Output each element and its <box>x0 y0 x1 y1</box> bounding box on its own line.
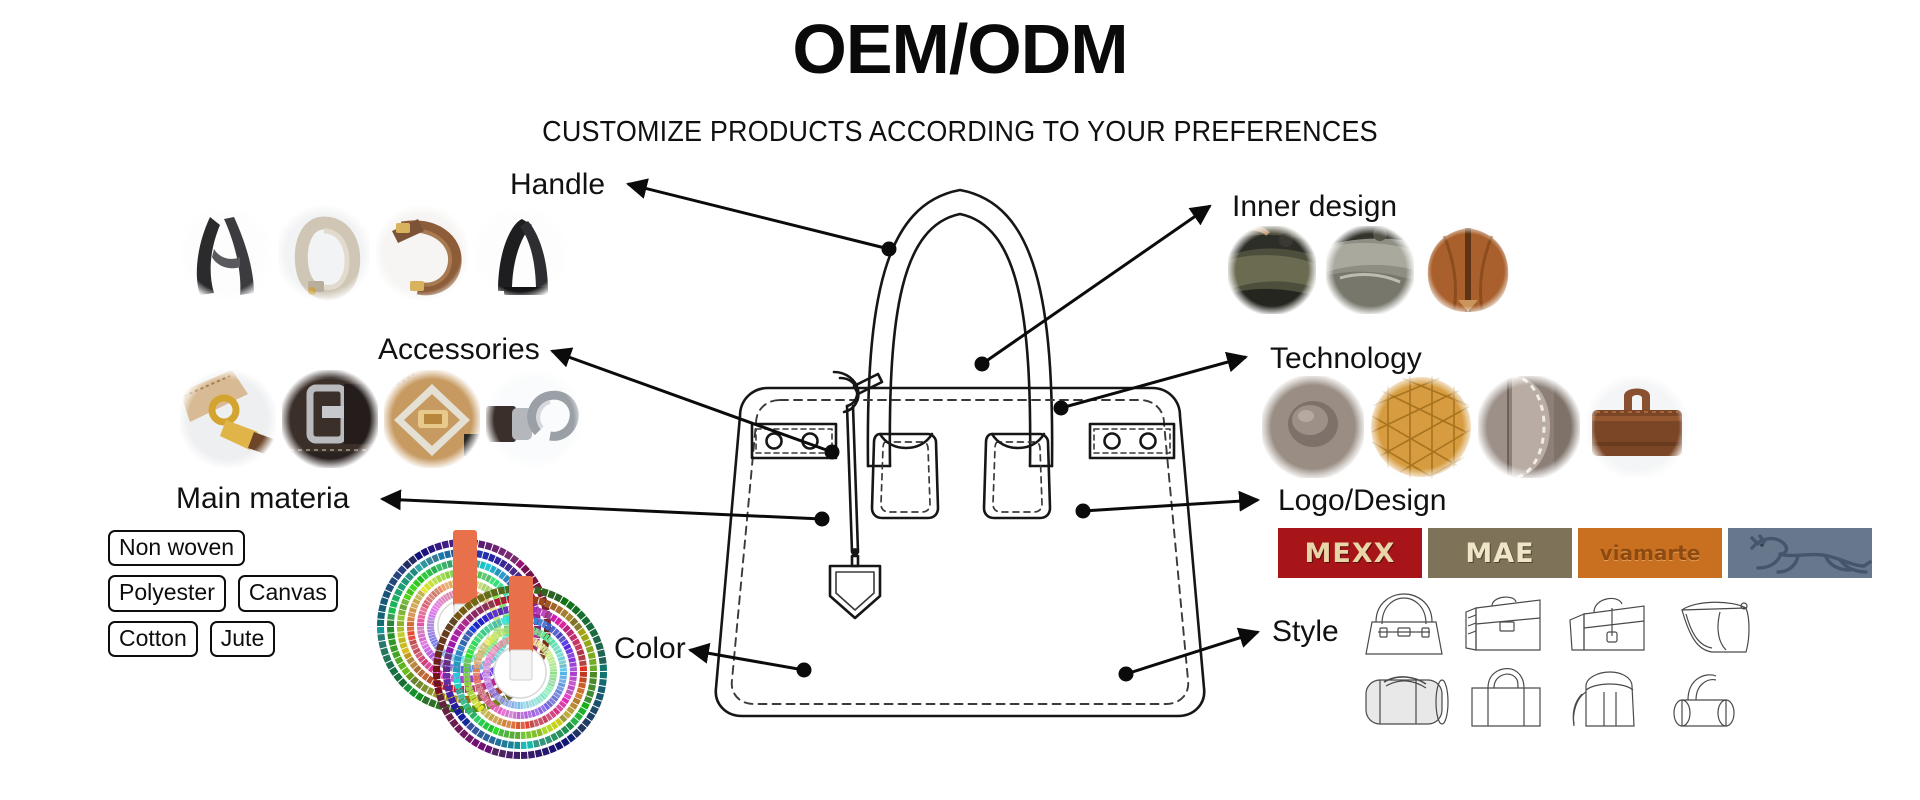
label-accessories: Accessories <box>378 335 540 365</box>
material-tag[interactable]: Polyester <box>108 575 226 611</box>
handbag-illustration <box>716 190 1204 716</box>
infographic-canvas: OEM/ODM CUSTOMIZE PRODUCTS ACCORDING TO … <box>0 0 1920 800</box>
thumb-beige-rolled-handle <box>278 205 370 301</box>
style-barrel-bag <box>1662 662 1758 734</box>
style-backpack <box>1560 662 1656 734</box>
viamarte-logo: viamarte <box>1578 528 1722 578</box>
horse-icon <box>1728 528 1872 578</box>
style-duffel-bag <box>1356 662 1452 734</box>
horse-emblem-logo <box>1728 528 1872 578</box>
thumb-silver-swivel-hook <box>486 370 582 468</box>
leader-inner-design <box>982 206 1210 364</box>
inner-design-thumbnails <box>1228 226 1512 314</box>
thumb-gold-turn-lock-clasp <box>384 370 480 468</box>
leader-main-material <box>382 499 822 519</box>
thumb-olive-lining <box>1228 226 1316 314</box>
page-title: OEM/ODM <box>0 14 1920 84</box>
thumb-quilted-stitch-pattern <box>1370 376 1472 478</box>
label-handle: Handle <box>510 170 605 200</box>
style-tote-bag <box>1356 588 1452 660</box>
material-tag[interactable]: Jute <box>210 621 275 657</box>
material-tag[interactable]: Canvas <box>238 575 338 611</box>
style-weekender-tote <box>1458 662 1554 734</box>
leader-style <box>1126 632 1258 674</box>
thumb-brown-lining <box>1424 226 1512 314</box>
thumb-brown-handle-gold-hardware <box>376 205 468 301</box>
color-fan-decks <box>368 530 618 770</box>
material-tag[interactable]: Cotton <box>108 621 198 657</box>
label-technology: Technology <box>1270 344 1422 374</box>
leader-logo-design <box>1083 500 1258 511</box>
label-inner-design: Inner design <box>1232 192 1397 222</box>
label-style: Style <box>1272 617 1339 647</box>
thumb-brown-leather-bag-detail <box>1586 376 1688 478</box>
leader-handle <box>628 184 889 249</box>
label-main-material: Main materia <box>176 484 349 514</box>
thumb-edge-binding-stitch <box>1478 376 1580 478</box>
label-logo-design: Logo/Design <box>1278 486 1446 516</box>
mae-logo: MAE <box>1428 528 1572 578</box>
leader-accessories <box>552 351 832 452</box>
leader-color <box>690 650 804 670</box>
style-briefcase <box>1458 588 1554 660</box>
accessory-thumbnails <box>180 370 582 468</box>
pantone-fan-svg <box>368 530 618 770</box>
thumb-grey-lining <box>1326 226 1414 314</box>
mae-logo-text: MAE <box>1465 538 1534 569</box>
viamarte-logo-text: viamarte <box>1600 541 1701 565</box>
thumb-metal-belt-buckle <box>282 370 378 468</box>
material-tag-list: Non woven Polyester Canvas Cotton Jute <box>108 530 366 657</box>
technology-thumbnails <box>1262 376 1688 478</box>
thumb-black-strap-handle <box>180 205 272 301</box>
thumb-black-flat-strap-handle <box>474 205 566 301</box>
logo-strip: MEXX MAE viamarte <box>1278 528 1872 578</box>
thumb-gold-zipper-pull <box>180 370 276 468</box>
label-color: Color <box>614 634 686 664</box>
style-flap-top-handle <box>1560 588 1656 660</box>
style-sketch-grid <box>1356 588 1758 734</box>
style-frame-clutch <box>1662 588 1758 660</box>
mexx-logo-text: MEXX <box>1305 538 1396 569</box>
page-subtitle: CUSTOMIZE PRODUCTS ACCORDING TO YOUR PRE… <box>67 116 1853 149</box>
thumb-snap-button-detail <box>1262 376 1364 478</box>
material-tag[interactable]: Non woven <box>108 530 245 566</box>
leader-technology <box>1061 357 1246 408</box>
mexx-logo: MEXX <box>1278 528 1422 578</box>
handle-thumbnails <box>180 205 566 301</box>
